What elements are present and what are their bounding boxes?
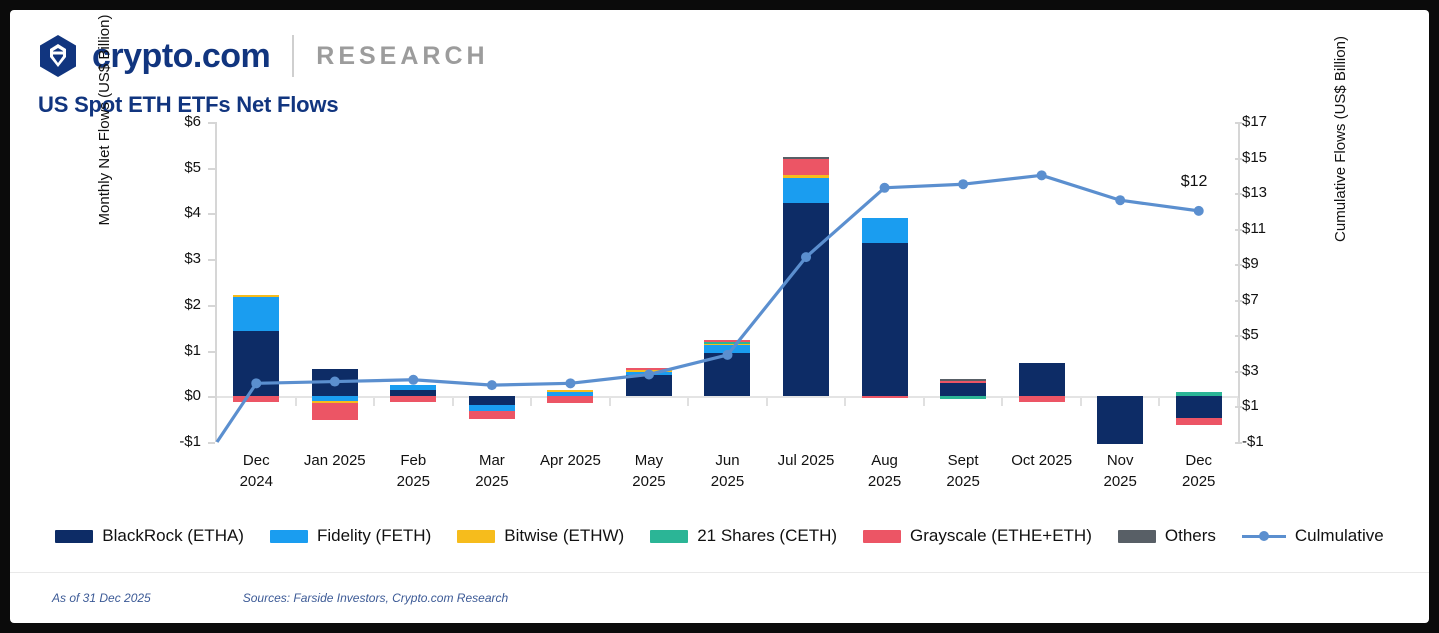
legend-color-swatch — [457, 530, 495, 543]
y-axis-right-tick: $11 — [1242, 221, 1266, 236]
x-axis-tick-line: Oct 2025 — [1002, 450, 1081, 471]
legend-label: Bitwise (ETHW) — [504, 526, 624, 546]
cumulative-point — [958, 179, 968, 189]
y-axis-left-tick: $0 — [184, 388, 201, 403]
cumulative-point — [487, 380, 497, 390]
legend-label: Grayscale (ETHE+ETH) — [910, 526, 1092, 546]
y-axis-left-tick-mark — [208, 351, 215, 353]
y-axis-left-tick-mark — [208, 122, 215, 124]
legend-item[interactable]: Bitwise (ETHW) — [457, 526, 624, 546]
legend-line-swatch — [1242, 529, 1286, 543]
cumulative-point — [644, 369, 654, 379]
x-axis-tick-line: 2025 — [1159, 471, 1238, 492]
y-axis-right-tick: $17 — [1242, 114, 1267, 129]
sources-text: Sources: Farside Investors, Crypto.com R… — [243, 591, 508, 605]
legend-item[interactable]: Culmulative — [1242, 526, 1384, 546]
y-axis-left-tick: $4 — [184, 205, 201, 220]
cumulative-point — [880, 183, 890, 193]
legend-color-swatch — [1118, 530, 1156, 543]
x-axis-tick-line: 2025 — [688, 471, 767, 492]
y-axis-left-tick-mark — [208, 168, 215, 170]
x-axis-tick-line: Feb — [374, 450, 453, 471]
y-axis-left-label: Monthly Net Flows (US$ Billion) — [96, 10, 113, 240]
y-axis-right-tick: $13 — [1242, 185, 1267, 200]
cumulative-point — [408, 375, 418, 385]
x-axis-tick-line: Jan 2025 — [296, 450, 375, 471]
y-axis-right-tick: $3 — [1242, 363, 1259, 378]
brand-subtitle: RESEARCH — [316, 42, 488, 71]
y-axis-right-tick: $5 — [1242, 327, 1259, 342]
legend-color-swatch — [650, 530, 688, 543]
x-axis-tick-label: May2025 — [610, 450, 689, 510]
y-axis-left: -$1$0$1$2$3$4$5$6 — [130, 122, 215, 442]
x-axis-tick-line: 2025 — [453, 471, 532, 492]
y-axis-left-tick-mark — [208, 396, 215, 398]
cumulative-point — [565, 378, 575, 388]
brand-divider — [292, 35, 294, 77]
screenshot-frame: crypto.com RESEARCH US Spot ETH ETFs Net… — [10, 10, 1429, 623]
cumulative-line — [217, 175, 1199, 442]
x-axis-tick-line: Nov — [1081, 450, 1160, 471]
y-axis-left-tick-mark — [208, 305, 215, 307]
y-axis-left-tick: $3 — [184, 251, 201, 266]
y-axis-left-tick-mark — [208, 259, 215, 261]
y-axis-right-tick: $9 — [1242, 256, 1259, 271]
cumulative-point — [1115, 195, 1125, 205]
cumulative-point — [330, 377, 340, 387]
footer-divider — [10, 572, 1429, 573]
x-axis-tick-label: Oct 2025 — [1002, 450, 1081, 510]
legend-label: Others — [1165, 526, 1216, 546]
x-axis-tick-line: Aug — [845, 450, 924, 471]
x-axis-tick-label: Jun2025 — [688, 450, 767, 510]
x-axis-tick-line: Jun — [688, 450, 767, 471]
legend-color-swatch — [55, 530, 93, 543]
x-axis-tick-line: 2025 — [924, 471, 1003, 492]
y-axis-left-tick: $6 — [184, 114, 201, 129]
legend-label: Culmulative — [1295, 526, 1384, 546]
x-axis-tick-label: Mar2025 — [453, 450, 532, 510]
y-axis-left-tick: $5 — [184, 160, 201, 175]
cumulative-point — [1194, 206, 1204, 216]
y-axis-left-tick-mark — [208, 213, 215, 215]
x-axis-tick-label: Feb2025 — [374, 450, 453, 510]
x-axis-tick-line: 2025 — [374, 471, 453, 492]
brand-name: crypto.com — [92, 39, 270, 73]
y-axis-right: -$1$1$3$5$7$9$11$13$15$17 — [1242, 122, 1327, 442]
cumulative-point — [723, 350, 733, 360]
legend-item[interactable]: Grayscale (ETHE+ETH) — [863, 526, 1092, 546]
legend-label: 21 Shares (CETH) — [697, 526, 837, 546]
x-axis-tick-line: 2025 — [845, 471, 924, 492]
x-axis-tick-line: Dec — [217, 450, 296, 471]
y-axis-left-tick-mark — [208, 442, 215, 444]
y-axis-right-tick-mark — [1235, 442, 1242, 444]
chart-legend: BlackRock (ETHA)Fidelity (FETH)Bitwise (… — [10, 526, 1429, 546]
x-axis-tick-line: 2025 — [610, 471, 689, 492]
x-axis-tick-line: 2024 — [217, 471, 296, 492]
x-axis-tick-label: Apr 2025 — [531, 450, 610, 510]
x-axis-tick-line: Mar — [453, 450, 532, 471]
y-axis-right-tick: $1 — [1242, 398, 1259, 413]
cumulative-line-series — [217, 122, 1238, 442]
y-axis-left-tick: $1 — [184, 343, 201, 358]
legend-label: Fidelity (FETH) — [317, 526, 431, 546]
x-axis-tick-line: Apr 2025 — [531, 450, 610, 471]
y-axis-right-label: Cumulative Flows (US$ Billion) — [1332, 24, 1349, 254]
footer: As of 31 Dec 2025 Sources: Farside Inves… — [52, 591, 508, 605]
x-axis-tick-label: Aug2025 — [845, 450, 924, 510]
crypto-com-logo-icon — [38, 34, 78, 78]
x-axis-tick-line: Dec — [1159, 450, 1238, 471]
cumulative-data-label: $12 — [1181, 173, 1208, 191]
y-axis-left-tick: $2 — [184, 297, 201, 312]
y-axis-right-line — [1238, 122, 1240, 442]
x-axis-tick-line: 2025 — [1081, 471, 1160, 492]
legend-item[interactable]: BlackRock (ETHA) — [55, 526, 244, 546]
cumulative-point — [1037, 170, 1047, 180]
legend-item[interactable]: 21 Shares (CETH) — [650, 526, 837, 546]
x-axis-tick-line: Jul 2025 — [767, 450, 846, 471]
x-axis-tick-label: Jan 2025 — [296, 450, 375, 510]
x-axis-tick-label: Nov2025 — [1081, 450, 1160, 510]
y-axis-right-tick: -$1 — [1242, 434, 1264, 449]
cumulative-point — [801, 252, 811, 262]
x-axis-tick-label: Sept2025 — [924, 450, 1003, 510]
legend-color-swatch — [270, 530, 308, 543]
x-axis-tick-label: Dec2024 — [217, 450, 296, 510]
x-axis-tick-line: May — [610, 450, 689, 471]
x-axis-tick-line: Sept — [924, 450, 1003, 471]
y-axis-right-tick: $7 — [1242, 292, 1259, 307]
x-axis-tick-label: Jul 2025 — [767, 450, 846, 510]
legend-item[interactable]: Fidelity (FETH) — [270, 526, 431, 546]
chart-area: Monthly Net Flows (US$ Billion) Cumulati… — [10, 122, 1429, 512]
cumulative-point — [251, 378, 261, 388]
y-axis-left-tick: -$1 — [179, 434, 201, 449]
y-axis-right-tick: $15 — [1242, 150, 1267, 165]
legend-label: BlackRock (ETHA) — [102, 526, 244, 546]
as-of-text: As of 31 Dec 2025 — [52, 591, 151, 605]
legend-item[interactable]: Others — [1118, 526, 1216, 546]
x-axis-tick-label: Dec2025 — [1159, 450, 1238, 510]
legend-color-swatch — [863, 530, 901, 543]
